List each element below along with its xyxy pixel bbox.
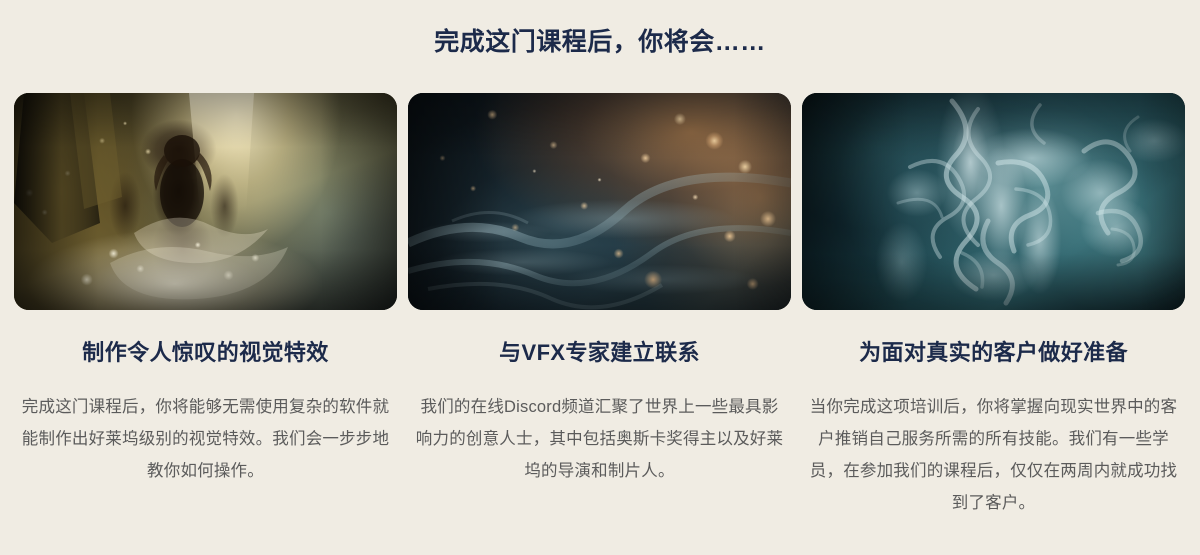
card-image-dark-teal-nebula-with-ember-sparks [408, 93, 791, 310]
card-image-teal-smoke-swirls [802, 93, 1185, 310]
benefit-cards-row: 制作令人惊叹的视觉特效 完成这门课程后，你将能够无需使用复杂的软件就能制作出好莱… [14, 93, 1186, 519]
card-image-runner-in-golden-waterfall [14, 93, 397, 310]
artwork-vignette-layer [408, 93, 791, 310]
artwork-vignette-layer [14, 93, 397, 310]
card-title: 为面对真实的客户做好准备 [802, 339, 1185, 367]
card-title: 与VFX专家建立联系 [408, 339, 791, 367]
artwork-vignette-layer [802, 93, 1185, 310]
benefit-card: 制作令人惊叹的视觉特效 完成这门课程后，你将能够无需使用复杂的软件就能制作出好莱… [14, 93, 397, 519]
section-heading: 完成这门课程后，你将会…… [0, 27, 1200, 57]
benefit-card: 为面对真实的客户做好准备 当你完成这项培训后，你将掌握向现实世界中的客户推销自己… [802, 93, 1185, 519]
card-body-text: 当你完成这项培训后，你将掌握向现实世界中的客户推销自己服务所需的所有技能。我们有… [809, 391, 1179, 520]
benefit-card: 与VFX专家建立联系 我们的在线Discord频道汇聚了世界上一些最具影响力的创… [408, 93, 791, 519]
card-title: 制作令人惊叹的视觉特效 [14, 339, 397, 367]
card-body-text: 完成这门课程后，你将能够无需使用复杂的软件就能制作出好莱坞级别的视觉特效。我们会… [21, 391, 391, 488]
page-root: 完成这门课程后，你将会…… [0, 0, 1200, 555]
card-body-text: 我们的在线Discord频道汇聚了世界上一些最具影响力的创意人士，其中包括奥斯卡… [415, 391, 785, 488]
